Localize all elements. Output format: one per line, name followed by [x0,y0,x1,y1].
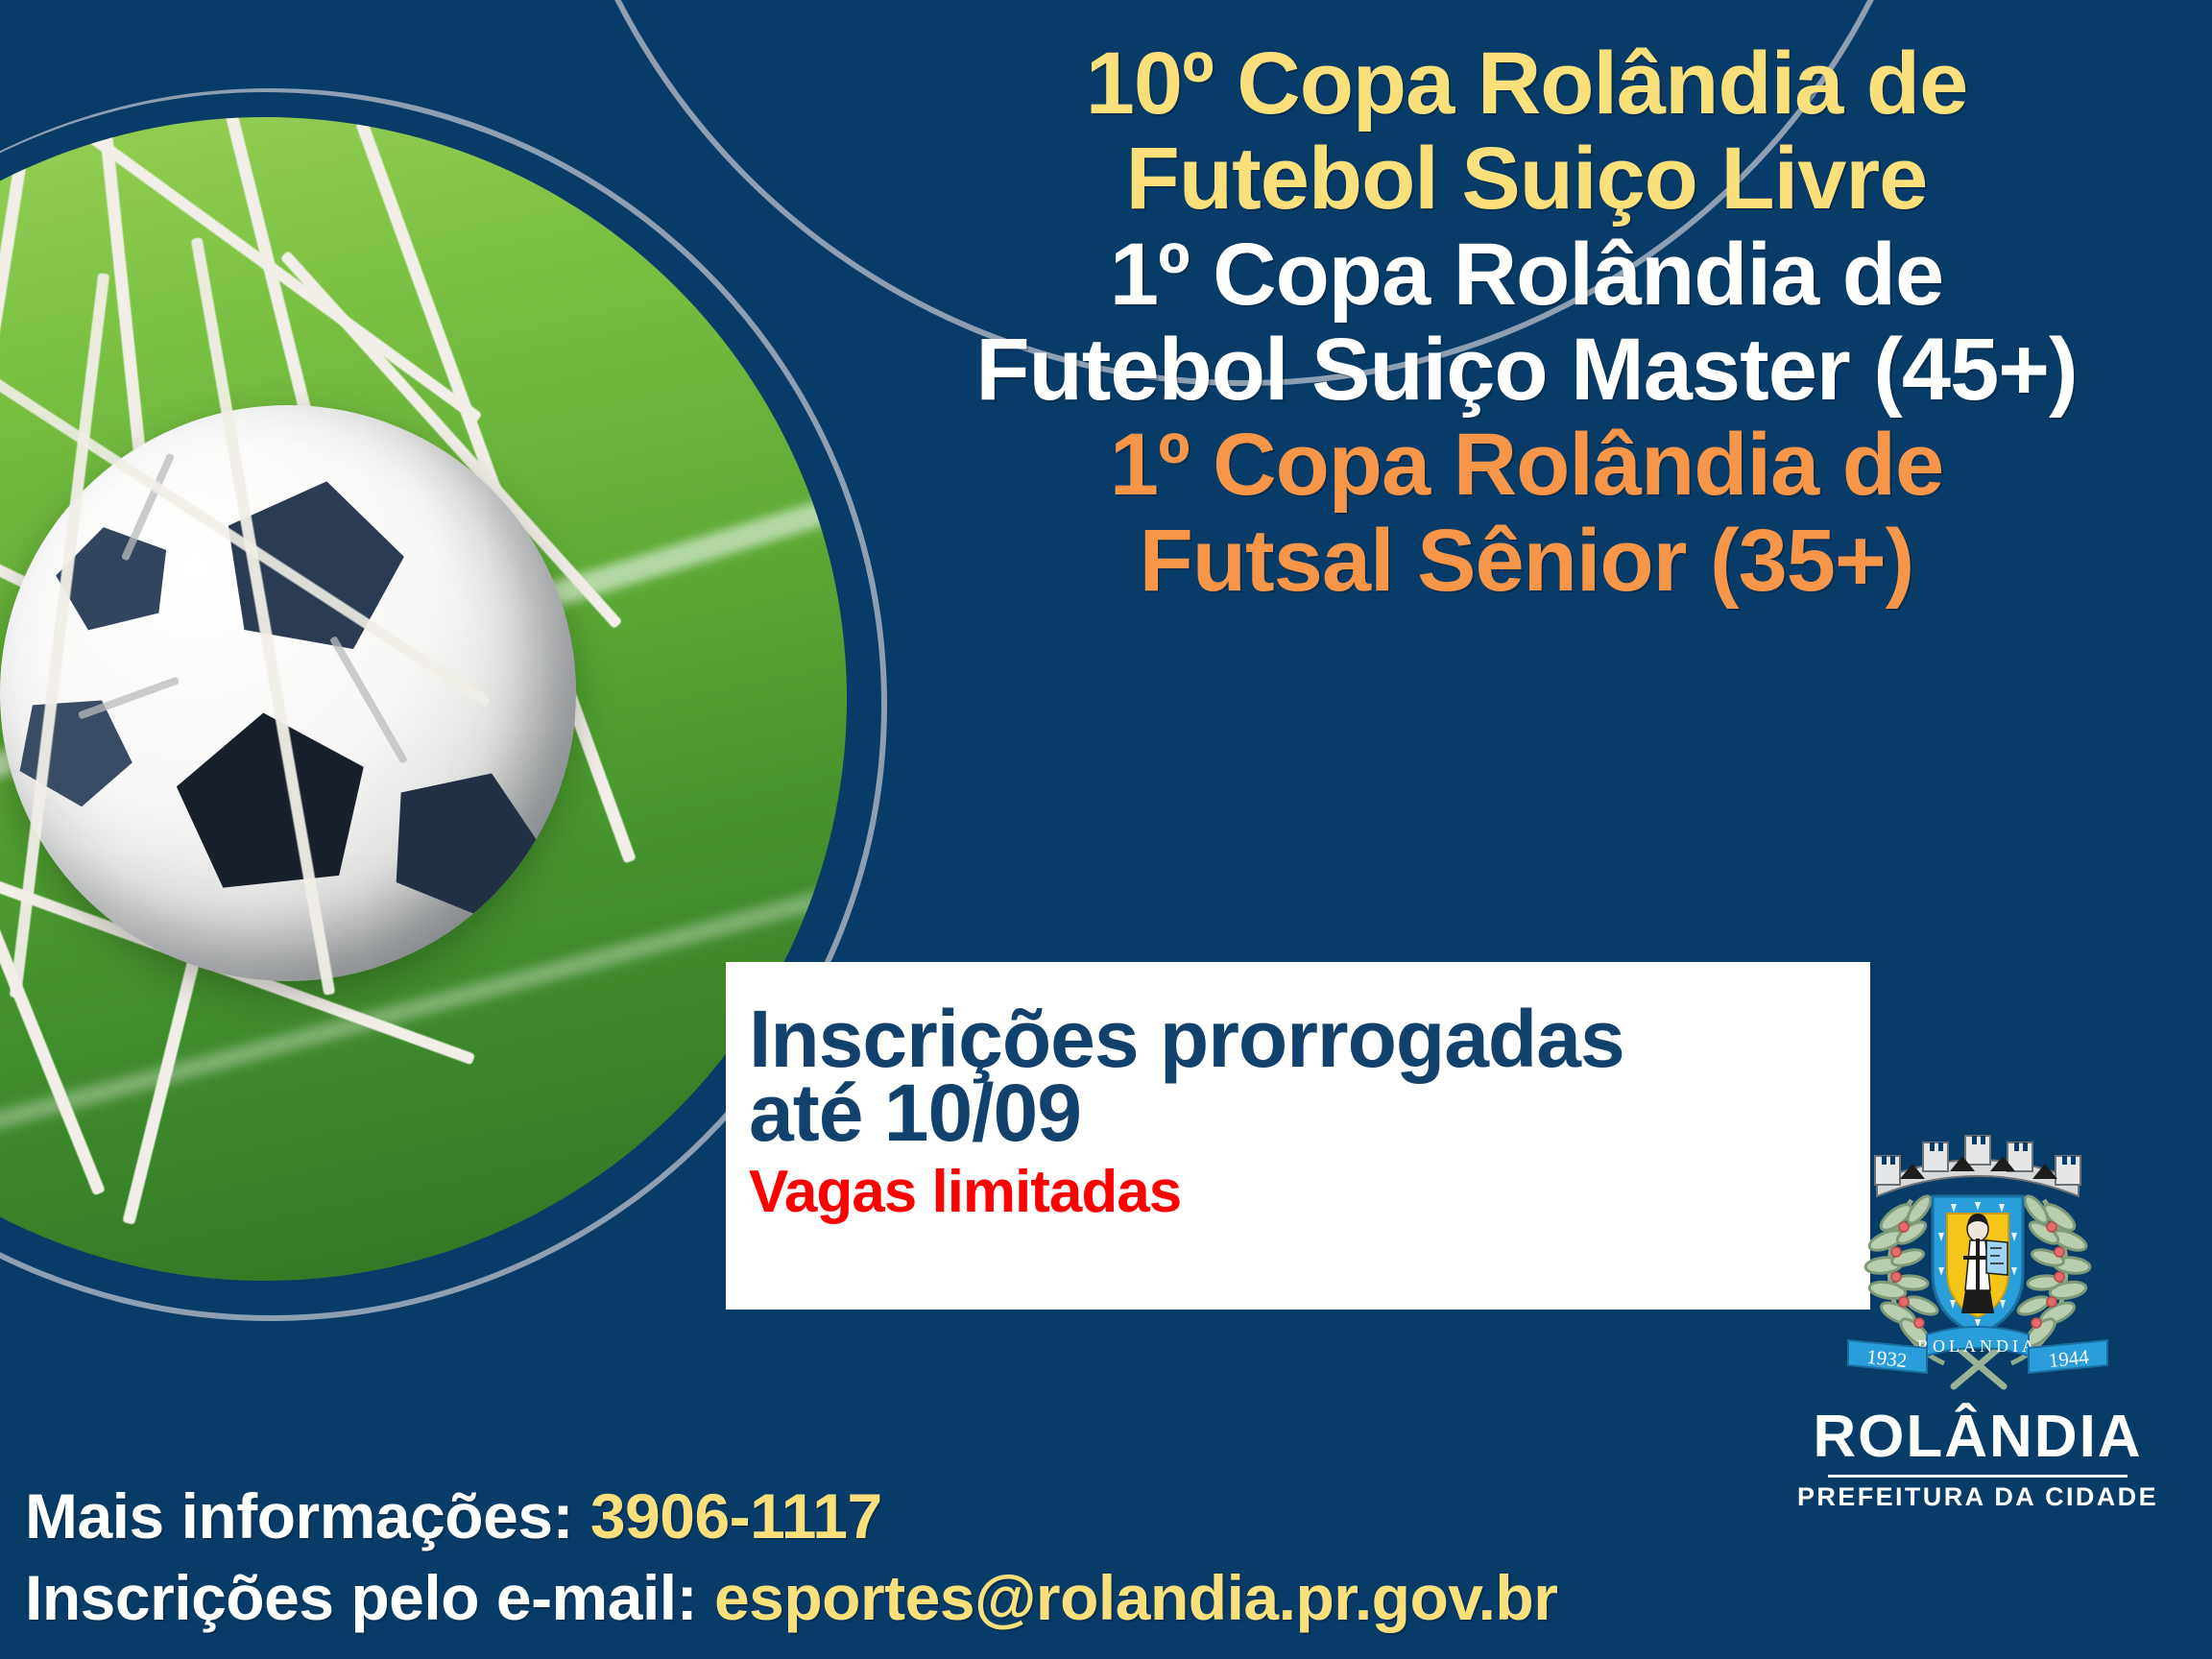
crest-year-right-text: 1944 [2048,1345,2091,1372]
contact-footer: Mais informações: 3906-1117 Inscrições p… [25,1476,2041,1638]
notice-headline-line1: Inscrições prorrogadas [749,962,1870,1076]
phone-number[interactable]: 3906-1117 [590,1480,882,1551]
soccer-ball [0,405,576,981]
logo-city-name: ROLÂNDIA [1776,1407,2179,1467]
more-info-label: Mais informações: [25,1480,590,1551]
ball-panel [170,703,375,900]
title-copa-master-line1: 1º Copa Rolândia de [854,228,2199,323]
poster-canvas: 10º Copa Rolândia de Futebol Suiço Livre… [0,0,2212,1659]
crest-banner-city-text: ROLANDIA [1917,1336,2038,1356]
title-copa-livre-line1: 10º Copa Rolândia de [854,36,2199,132]
email-address[interactable]: esportes@rolandia.pr.gov.br [714,1562,1558,1633]
title-futsal-senior-line2: Futsal Sênior (35+) [854,514,2199,609]
city-hall-logo: ROLANDIA 1932 1944 ROLÂNDIA PREFEITURA D… [1776,1121,2179,1510]
title-futsal-senior-line1: 1º Copa Rolândia de [854,418,2199,513]
email-line: Inscrições pelo e-mail: esportes@rolandi… [25,1557,2041,1638]
ball-seam [329,636,408,764]
notice-limited-spots: Vagas limitadas [749,1163,1870,1222]
title-copa-livre-line2: Futebol Suiço Livre [854,132,2199,227]
ball-seam [78,676,180,719]
more-info-line: Mais informações: 3906-1117 [25,1476,2041,1556]
soccer-ball-photo [0,117,847,1281]
registration-notice-box: Inscrições prorrogadas até 10/09 Vagas l… [726,962,1870,1310]
email-label: Inscrições pelo e-mail: [25,1562,714,1633]
title-copa-master-line2: Futebol Suiço Master (45+) [854,323,2199,418]
event-titles: 10º Copa Rolândia de Futebol Suiço Livre… [854,36,2199,609]
notice-headline-line2: até 10/09 [749,1076,1870,1150]
rolandia-coat-of-arms-icon: ROLANDIA 1932 1944 [1819,1121,2136,1402]
crest-year-left-text: 1932 [1865,1345,1908,1372]
